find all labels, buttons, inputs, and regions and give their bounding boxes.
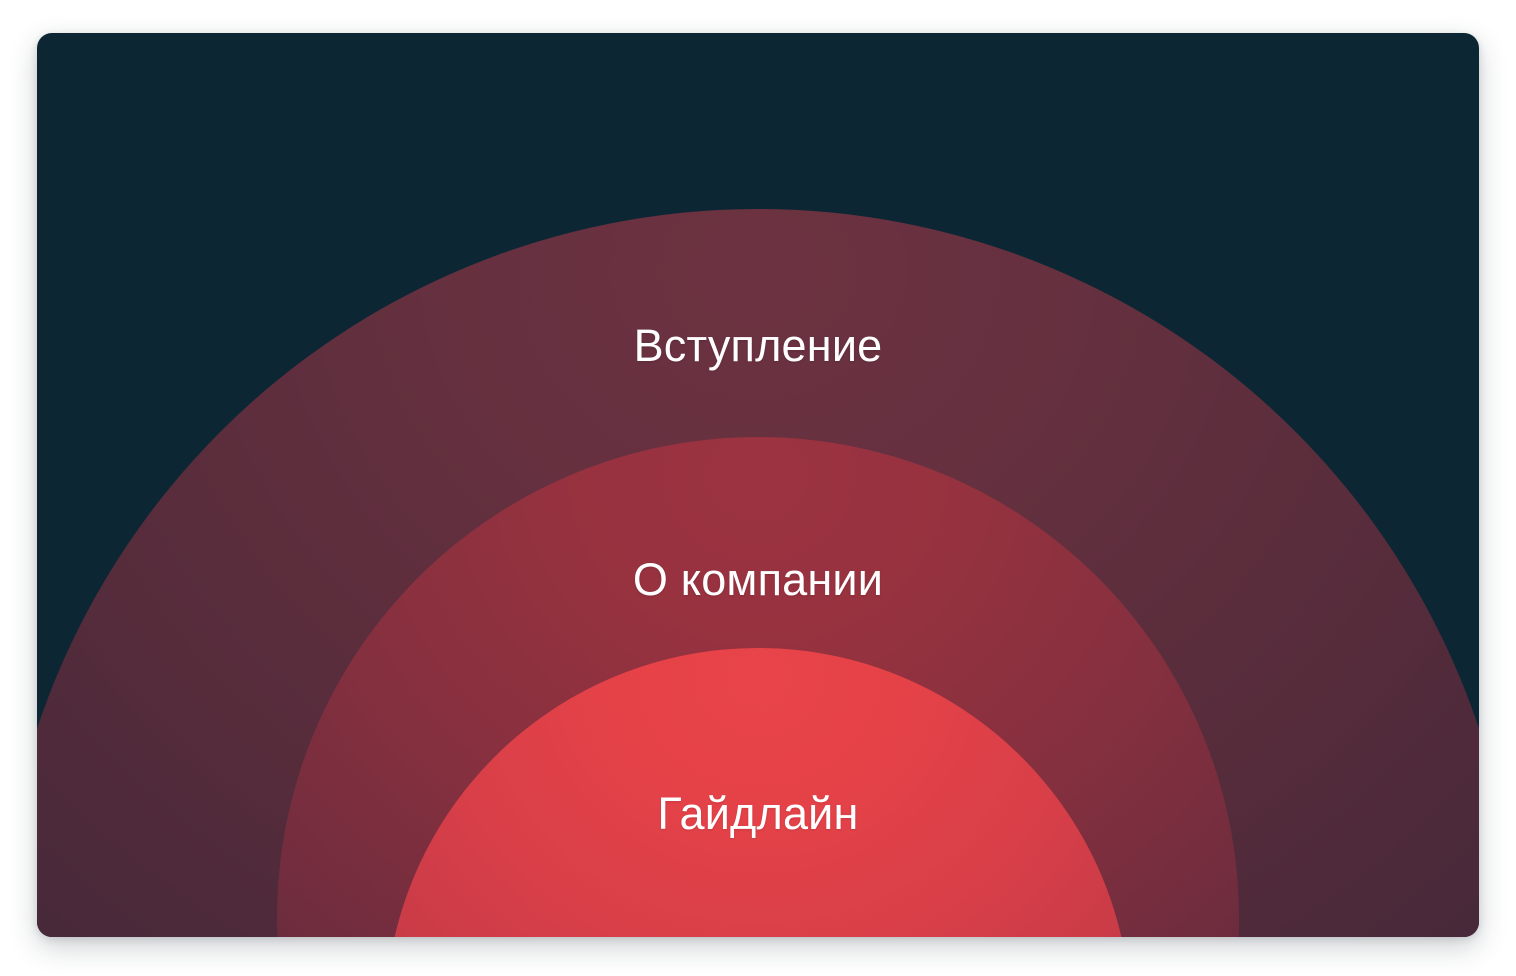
slide-card: Вступление О компании Гайдлайн — [37, 33, 1479, 937]
slide-canvas: Вступление О компании Гайдлайн — [0, 0, 1516, 976]
concentric-rings-diagram: Вступление О компании Гайдлайн — [37, 33, 1479, 937]
